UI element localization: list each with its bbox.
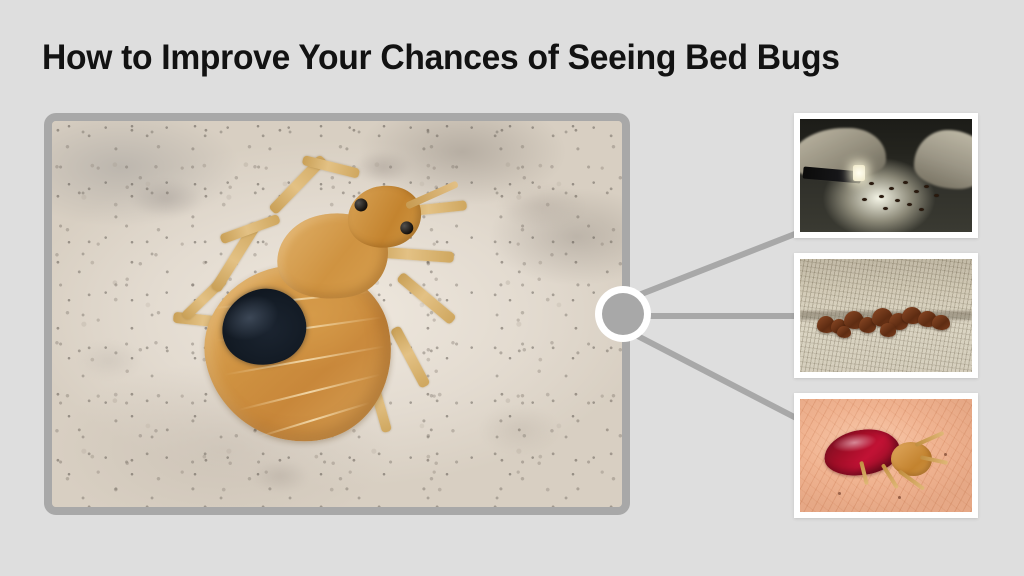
- connector-line-top: [626, 232, 800, 300]
- thumbnail-flashlight-inspection[interactable]: [794, 113, 978, 238]
- pillow-right: [914, 130, 972, 189]
- thumbnail-cluster-image: [800, 259, 972, 372]
- bed-bug-cluster: [814, 300, 958, 338]
- thumbnail-skin-image: [800, 399, 972, 512]
- main-bed-bug-photo[interactable]: [44, 113, 630, 515]
- flashlight-lens: [853, 165, 865, 181]
- bed-bug-illustration: [154, 143, 510, 499]
- slide-canvas: How to Improve Your Chances of Seeing Be…: [0, 0, 1024, 576]
- thumbnail-mattress-seam-infestation[interactable]: [794, 253, 978, 378]
- hub-node[interactable]: [595, 286, 651, 342]
- hub-node-core: [602, 293, 644, 335]
- thumbnail-flashlight-image: [800, 119, 972, 232]
- page-title: How to Improve Your Chances of Seeing Be…: [42, 34, 964, 82]
- connector-line-bottom: [626, 330, 800, 420]
- hero-photo-surface: [52, 121, 622, 507]
- thumbnail-engorged-bug-on-skin[interactable]: [794, 393, 978, 518]
